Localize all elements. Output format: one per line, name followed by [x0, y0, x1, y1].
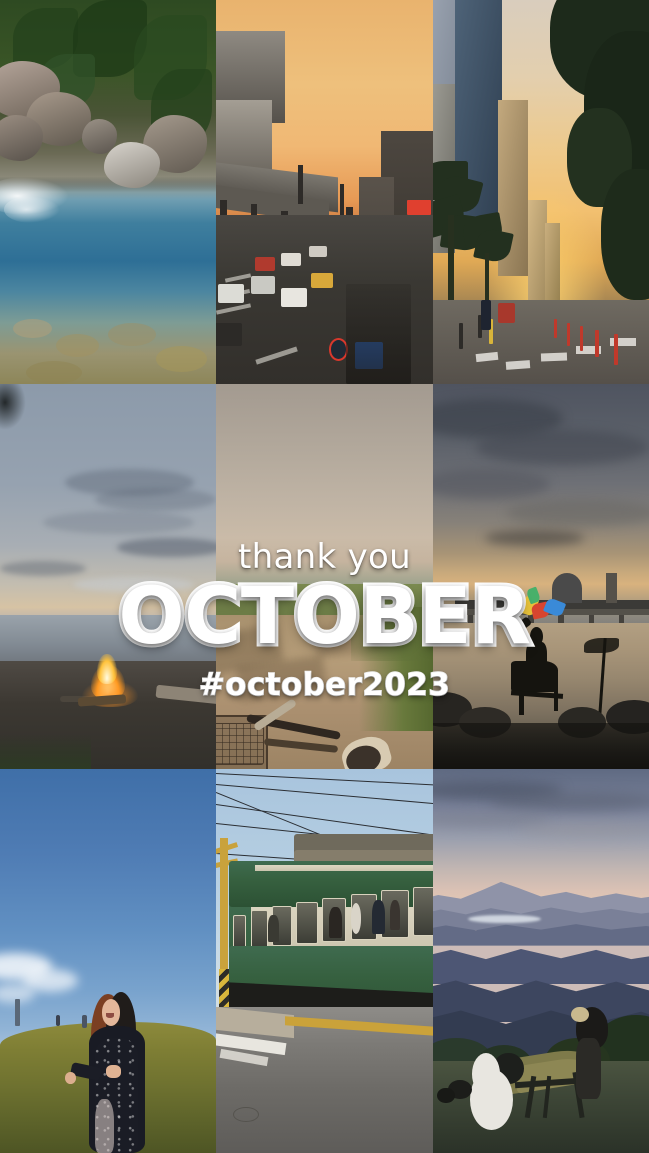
photo-vintage-tram	[216, 769, 433, 1153]
collage-photo-3[interactable]	[433, 0, 649, 384]
collage-photo-7[interactable]	[0, 769, 216, 1153]
collage-photo-5[interactable]	[216, 384, 433, 769]
photo-bike-dirt-path	[216, 384, 433, 769]
photo-beach-bonfire	[0, 384, 216, 769]
photo-collage-grid	[0, 0, 649, 1153]
photo-mountain-camp-dog	[433, 769, 649, 1153]
collage-photo-9[interactable]	[433, 769, 649, 1153]
photo-woman-grass-hill	[0, 769, 216, 1153]
collage-photo-1[interactable]	[0, 0, 216, 384]
collage-photo-4[interactable]	[0, 384, 216, 769]
photo-city-street-sunset	[216, 0, 433, 384]
photo-kite-lake-bridge	[433, 384, 649, 769]
collage-photo-8[interactable]	[216, 769, 433, 1153]
photo-skyscraper-boulevard	[433, 0, 649, 384]
collage-photo-2[interactable]	[216, 0, 433, 384]
collage-photo-6[interactable]	[433, 384, 649, 769]
photo-river-jungle	[0, 0, 216, 384]
